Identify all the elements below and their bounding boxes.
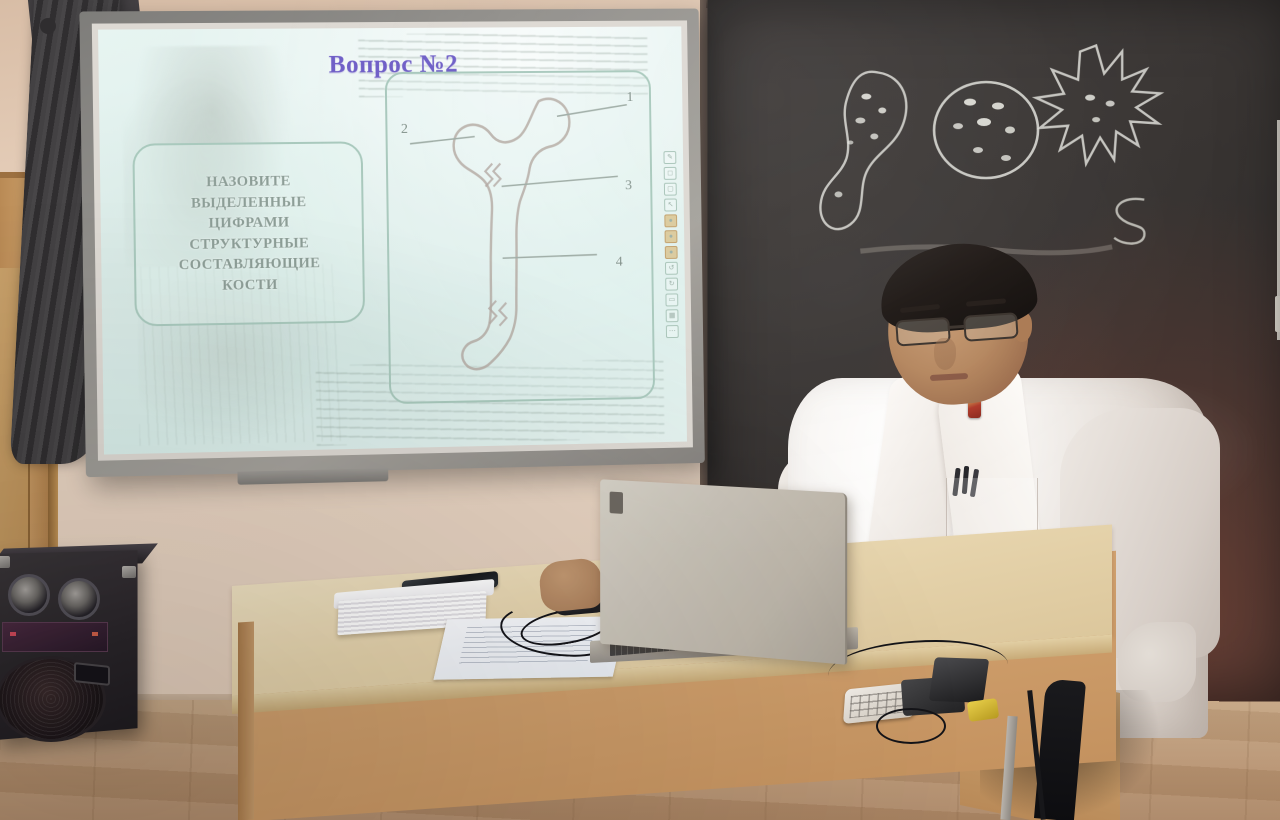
undo-tool-icon[interactable]: ↺ bbox=[665, 262, 678, 275]
bone-label-2: 2 bbox=[401, 121, 408, 137]
slide-prompt-text: НАЗОВИТЕ ВЫДЕЛЕННЫЕ ЦИФРАМИ СТРУКТУРНЫЕ … bbox=[177, 171, 320, 297]
desk-left-leg bbox=[238, 621, 254, 820]
speaker-side-handle bbox=[74, 662, 110, 686]
nose bbox=[934, 338, 956, 370]
femur-bone-diagram-icon bbox=[387, 72, 653, 402]
grid-tool-icon[interactable]: ▦ bbox=[666, 309, 679, 322]
pen-tool-icon[interactable]: ✎ bbox=[663, 151, 676, 164]
redo-tool-icon[interactable]: ↻ bbox=[665, 278, 678, 291]
power-adapter-second bbox=[929, 657, 989, 702]
slide-diagram-card: 1 2 3 4 bbox=[385, 70, 655, 404]
bone-label-4: 4 bbox=[616, 254, 623, 270]
projected-slide: Вопрос №2 НАЗОВИТЕ ВЫДЕЛЕННЫЕ ЦИФРАМИ СТ… bbox=[98, 26, 687, 454]
eyeglass-lens-right bbox=[963, 312, 1019, 342]
laptop[interactable] bbox=[596, 486, 846, 664]
laptop-lid bbox=[600, 479, 847, 665]
select-tool-icon[interactable]: ↖ bbox=[664, 198, 677, 211]
speaker-corner-cap bbox=[0, 556, 10, 568]
classroom-photo: Вопрос №2 НАЗОВИТЕ ВЫДЕЛЕННЫЕ ЦИФРАМИ СТ… bbox=[0, 0, 1280, 820]
more-tool-icon[interactable]: ⋯ bbox=[666, 325, 679, 338]
color-amber-icon[interactable]: ● bbox=[665, 246, 678, 259]
speaker-control-panel[interactable] bbox=[2, 622, 108, 652]
whiteboard-toolbar[interactable]: ✎ ◻ ▢ ↖ ● ● ● ↺ ↻ ▭ ▦ ⋯ bbox=[663, 151, 678, 338]
color-orange-icon[interactable]: ● bbox=[665, 230, 678, 243]
laptop-brand-logo-icon bbox=[610, 492, 623, 514]
bone-label-1: 1 bbox=[626, 90, 633, 106]
bone-label-3: 3 bbox=[625, 178, 632, 194]
chalk-star-cell-icon bbox=[1018, 31, 1178, 192]
whiteboard-post-knob bbox=[1275, 296, 1280, 332]
shape-tool-icon[interactable]: ▢ bbox=[664, 183, 677, 196]
whiteboard-surface[interactable]: Вопрос №2 НАЗОВИТЕ ВЫДЕЛЕННЫЕ ЦИФРАМИ СТ… bbox=[92, 20, 693, 460]
speaker-tweeter-icon bbox=[58, 578, 100, 620]
speaker-led-icon bbox=[10, 632, 16, 636]
interactive-whiteboard[interactable]: Вопрос №2 НАЗОВИТЕ ВЫДЕЛЕННЫЕ ЦИФРАМИ СТ… bbox=[79, 9, 704, 478]
page-tool-icon[interactable]: ▭ bbox=[665, 293, 678, 306]
speaker-tweeter-icon bbox=[8, 574, 50, 616]
hand-on-mouse bbox=[538, 557, 605, 613]
color-yellow-icon[interactable]: ● bbox=[664, 214, 677, 227]
chalk-partial-letter bbox=[1104, 190, 1174, 250]
curtain-hook bbox=[40, 18, 56, 34]
slide-prompt-card: НАЗОВИТЕ ВЫДЕЛЕННЫЕ ЦИФРАМИ СТРУКТУРНЫЕ … bbox=[132, 142, 365, 327]
coiled-cable bbox=[876, 708, 946, 744]
speaker-led-icon bbox=[92, 632, 98, 636]
eraser-tool-icon[interactable]: ◻ bbox=[664, 167, 677, 180]
speaker-corner-cap bbox=[122, 566, 136, 578]
yellow-plug bbox=[967, 698, 999, 722]
